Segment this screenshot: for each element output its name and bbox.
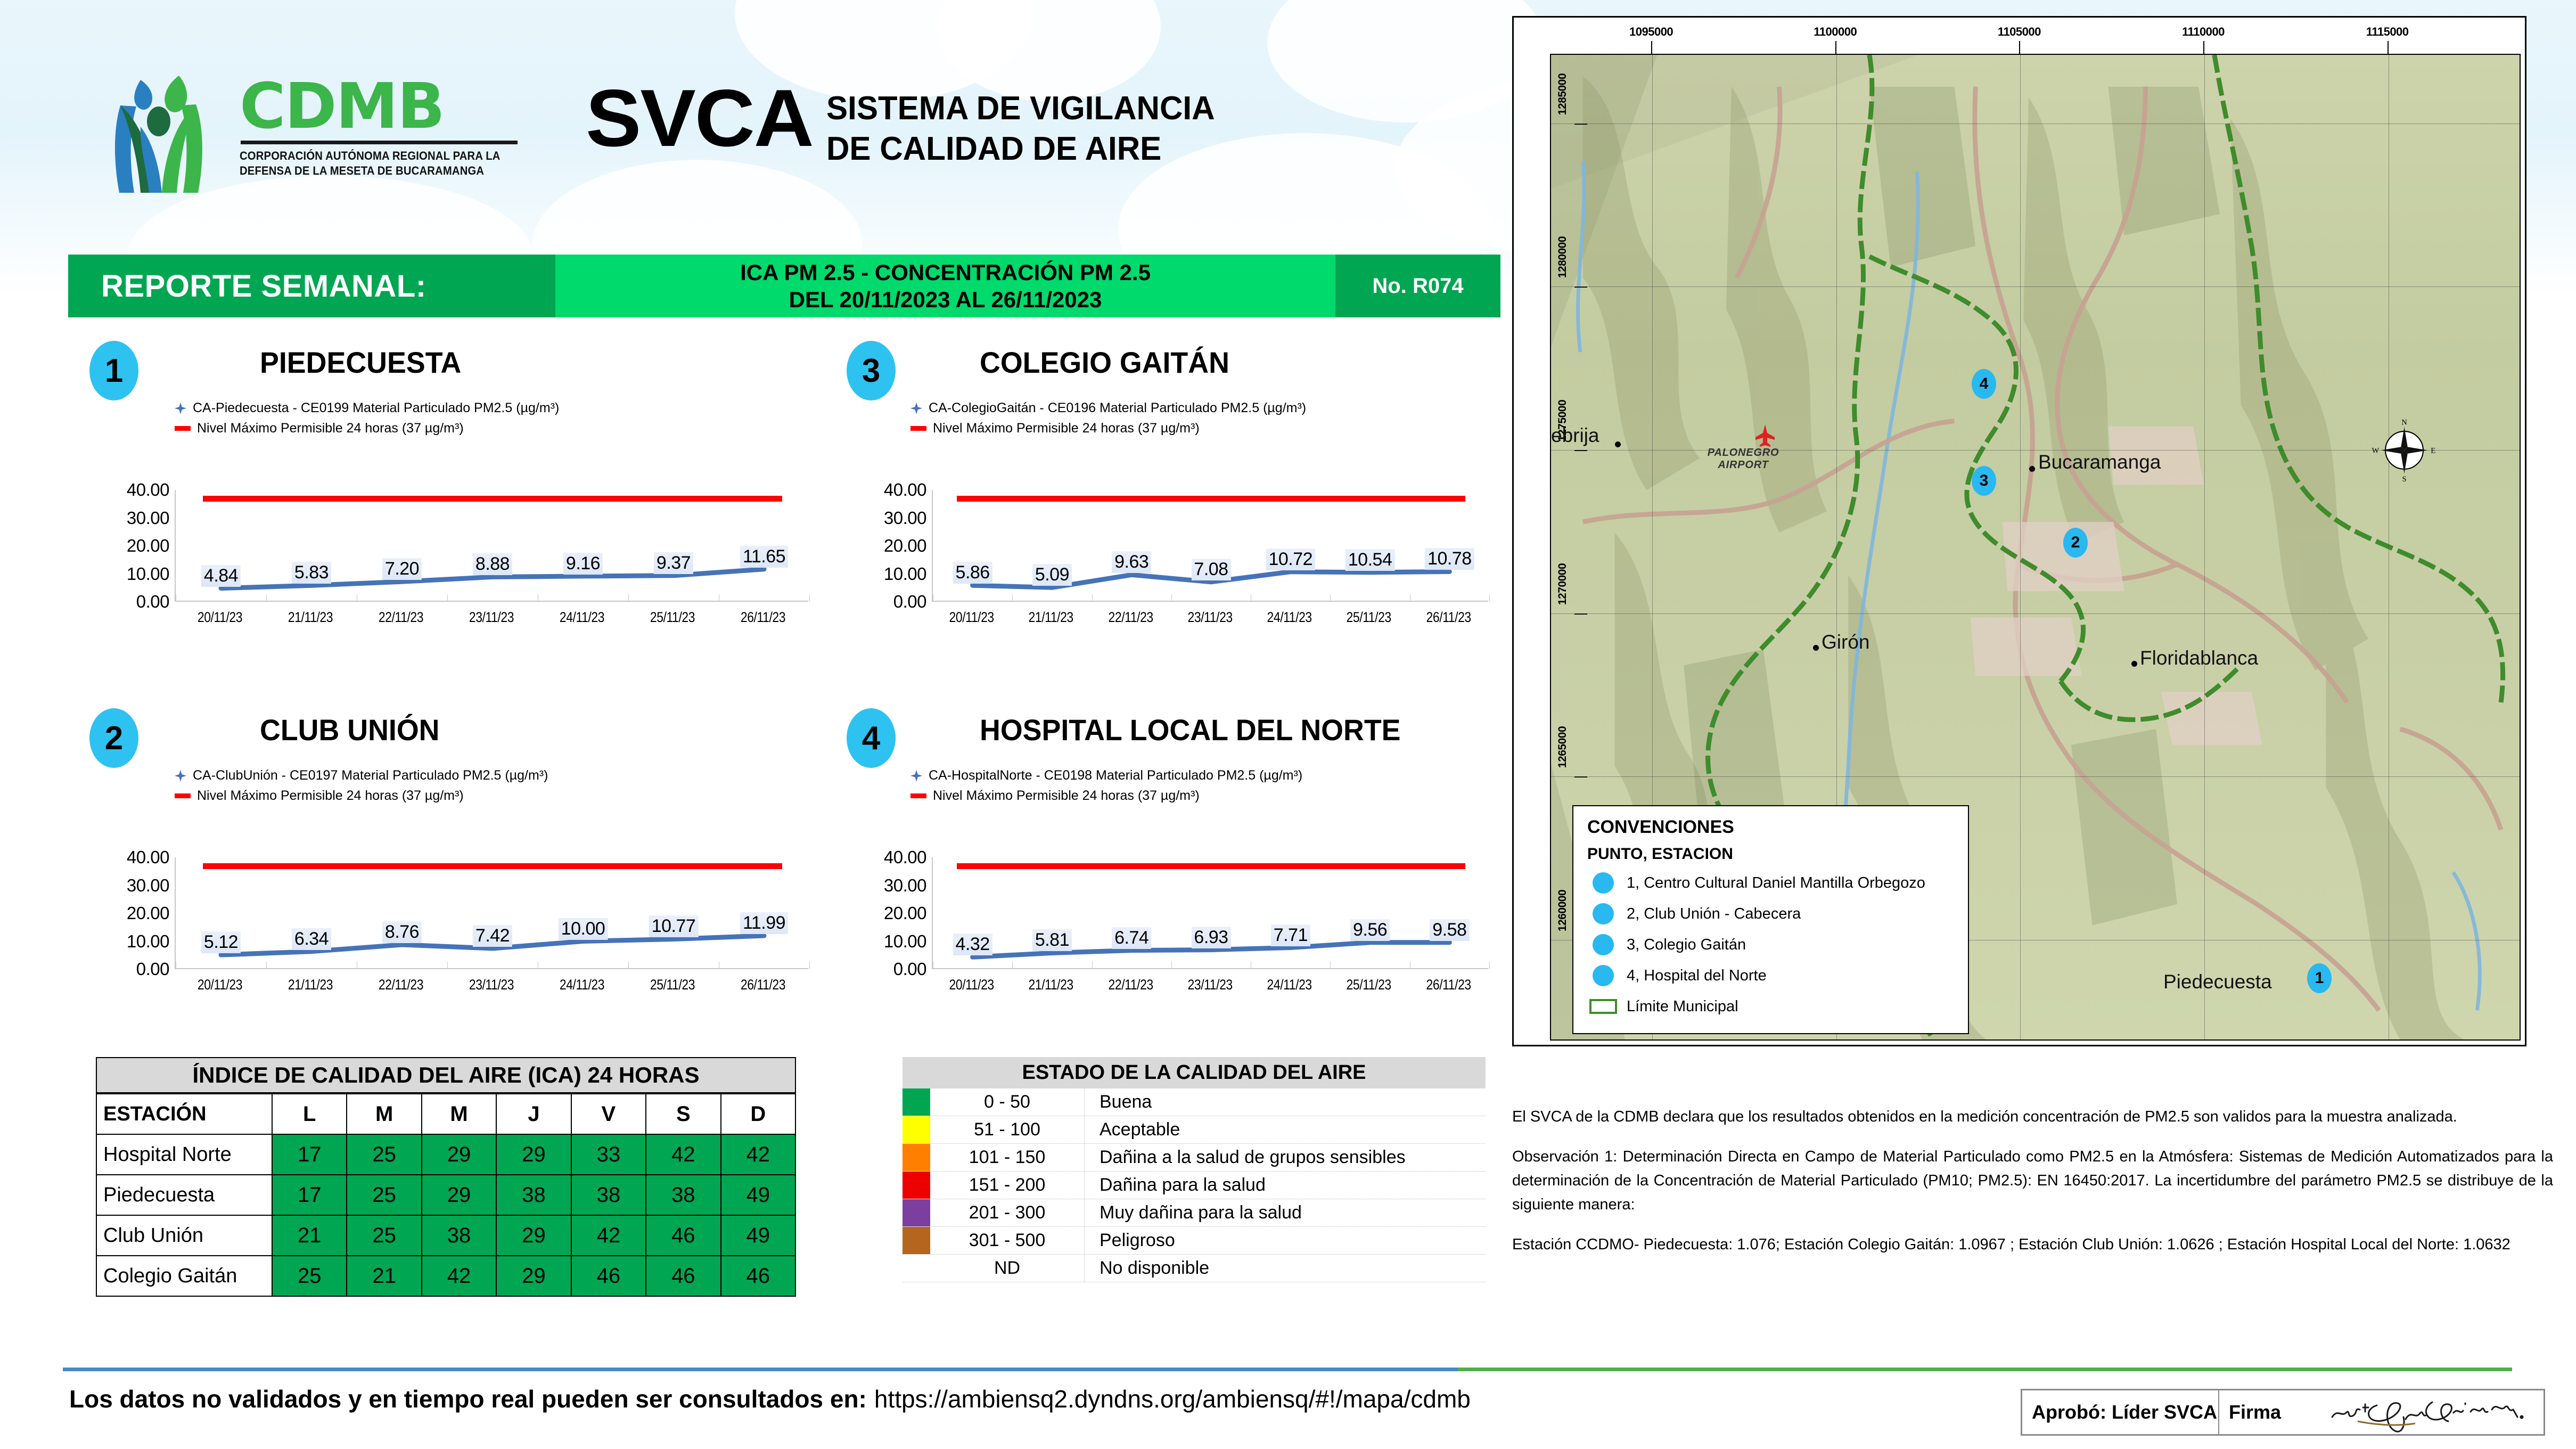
estado-description: Aceptable — [1085, 1116, 1486, 1143]
station-marker-icon — [1593, 934, 1614, 955]
x-axis-tick-label: 22/11/23 — [363, 609, 440, 626]
svca-subtitle-line2: DE CALIDAD DE AIRE — [826, 129, 1215, 169]
y-axis-labels: 0.0010.0020.0030.0040.00 — [89, 490, 169, 602]
estado-row: 201 - 300Muy dañina para la salud — [903, 1199, 1486, 1227]
note-paragraph-1: El SVCA de la CDMB declara que los resul… — [1512, 1105, 2553, 1129]
note-paragraph-3: Estación CCDMO- Piedecuesta: 1.076; Esta… — [1512, 1233, 2553, 1257]
data-point-label: 5.81 — [1032, 929, 1072, 951]
station-marker-icon — [1593, 965, 1614, 986]
svg-text:E: E — [2431, 447, 2435, 455]
footer-divider — [63, 1368, 2512, 1371]
table-row: Colegio Gaitán25214229464646 — [96, 1256, 795, 1296]
report-banner: REPORTE SEMANAL: ICA PM 2.5 - CONCENTRAC… — [68, 255, 1500, 317]
y-axis-tick-label: 0.00 — [136, 959, 169, 979]
map-x-tick-mark — [1835, 41, 1836, 54]
plot-area: 5.126.348.767.4210.0010.7711.99 — [175, 857, 808, 969]
legend-row-limit: Nivel Máximo Permisible 24 horas (37 µg/… — [910, 786, 1302, 806]
map-gridline-horizontal — [1551, 286, 2520, 287]
legend-row-limit: Nivel Máximo Permisible 24 horas (37 µg/… — [175, 419, 559, 439]
data-series-line — [176, 490, 809, 602]
map-gridline-horizontal — [1551, 124, 2520, 124]
data-point-label: 11.99 — [740, 912, 788, 934]
estado-range: 301 - 500 — [930, 1227, 1085, 1254]
x-axis-tick-label: 24/11/23 — [1256, 609, 1323, 626]
map-legend-title: CONVENCIONES — [1587, 817, 1968, 838]
svca-subtitle: SISTEMA DE VIGILANCIA DE CALIDAD DE AIRE — [826, 88, 1215, 169]
signature-cell: Firma — [2219, 1390, 2544, 1434]
y-axis-tick-label: 0.00 — [893, 592, 926, 612]
y-axis-tick-label: 40.00 — [884, 480, 926, 500]
estado-color-swatch — [903, 1255, 930, 1282]
estado-row: 0 - 50Buena — [903, 1088, 1486, 1116]
data-point-label: 6.74 — [1112, 927, 1151, 949]
ica-value-cell: 29 — [496, 1134, 571, 1175]
footer-note: Los datos no validados y en tiempo real … — [69, 1385, 1471, 1413]
map-legend-subtitle: PUNTO, ESTACION — [1587, 845, 1968, 863]
y-axis-tick-label: 20.00 — [127, 536, 169, 556]
ica-value-cell: 46 — [646, 1256, 720, 1296]
ica-column-header: ESTACIÓN — [96, 1094, 272, 1134]
estado-description: Dañina para la salud — [1085, 1172, 1486, 1199]
footer-divider-blue — [63, 1368, 1458, 1371]
data-point-label: 11.65 — [740, 546, 788, 568]
data-point-label: 9.37 — [654, 552, 693, 574]
svg-text:N: N — [2401, 419, 2407, 427]
map-x-tick-label: 1100000 — [1814, 25, 1857, 39]
y-axis-tick-label: 40.00 — [127, 847, 169, 867]
series-marker-icon — [910, 403, 922, 414]
ica-value-cell: 21 — [272, 1215, 347, 1256]
ica-value-cell: 42 — [646, 1134, 720, 1175]
chart-title: HOSPITAL LOCAL DEL NORTE — [980, 713, 1401, 747]
banner-title: ICA PM 2.5 - CONCENTRACIÓN PM 2.5 DEL 20… — [555, 255, 1335, 317]
map-y-tick-label: 1280000 — [1556, 236, 1569, 278]
ica-value-cell: 25 — [347, 1215, 421, 1256]
station-marker-icon — [1593, 903, 1614, 924]
y-axis-tick-label: 0.00 — [136, 592, 169, 612]
data-point-label: 10.78 — [1425, 548, 1474, 570]
ica-table-grid: ESTACIÓNLMMJVSD Hospital Norte1725292933… — [96, 1093, 796, 1297]
ica-column-header: D — [721, 1094, 795, 1134]
estado-color-swatch — [903, 1144, 930, 1171]
map-y-tick-label: 1260000 — [1556, 890, 1569, 931]
x-axis-tick — [1489, 962, 1490, 969]
city-dot-giron — [1813, 645, 1819, 651]
estado-color-swatch — [903, 1199, 930, 1226]
x-axis-labels: 20/11/2321/11/2322/11/2323/11/2324/11/23… — [175, 977, 808, 993]
data-point-label: 9.56 — [1350, 919, 1390, 941]
map-pin-1[interactable]: 1 — [2307, 963, 2332, 993]
series-marker-icon — [910, 770, 922, 782]
legend-series-label: CA-HospitalNorte - CE0198 Material Parti… — [929, 766, 1302, 786]
map-top-axis: 10950001100000110500011100001115000 — [1514, 18, 2525, 54]
chart-legend: CA-ColegioGaitán - CE0196 Material Parti… — [910, 398, 1306, 438]
legend-row-series: CA-ColegioGaitán - CE0196 Material Parti… — [910, 398, 1306, 419]
legend-limit-label: Nivel Máximo Permisible 24 horas (37 µg/… — [933, 786, 1200, 806]
y-axis-tick-label: 40.00 — [127, 480, 169, 500]
airport-name-line2: AIRPORT — [1718, 459, 1768, 471]
estado-description: Dañina a la salud de grupos sensibles — [1085, 1144, 1486, 1171]
map-legend-item-label: 3, Colegio Gaitán — [1627, 936, 1746, 954]
map-legend-boundary-label: Límite Municipal — [1627, 998, 1738, 1016]
ica-value-cell: 38 — [422, 1215, 496, 1256]
data-point-label: 6.93 — [1191, 927, 1230, 948]
estado-color-swatch — [903, 1172, 930, 1199]
map-canvas[interactable]: 1285000128000012750001270000126500012600… — [1550, 54, 2521, 1041]
x-axis-tick-label: 24/11/23 — [544, 977, 621, 993]
svg-text:W: W — [2372, 447, 2379, 455]
data-point-label: 5.83 — [292, 562, 331, 584]
limit-line-marker-icon — [175, 426, 191, 431]
chart-panel-hospital-norte: 4HOSPITAL LOCAL DEL NORTECA-HospitalNort… — [847, 708, 1502, 1006]
approval-box: Aprobó: Líder SVCA Firma — [2021, 1389, 2545, 1436]
estado-range: 0 - 50 — [930, 1088, 1085, 1116]
map-legend-item: 4, Hospital del Norte — [1587, 960, 1968, 991]
data-point-label: 7.08 — [1191, 559, 1230, 580]
ica-value-cell: 17 — [272, 1175, 347, 1215]
ica-value-cell: 29 — [496, 1256, 571, 1296]
city-label-floridablanca: Floridablanca — [2140, 647, 2258, 669]
map-legend-item: 3, Colegio Gaitán — [1587, 929, 1968, 960]
x-axis-tick-label: 26/11/23 — [725, 609, 802, 626]
x-axis-tick-label: 25/11/23 — [1335, 609, 1403, 626]
city-dot-bucaramanga — [2029, 466, 2035, 472]
y-axis-tick-label: 10.00 — [127, 931, 169, 952]
station-badge-3: 3 — [847, 341, 896, 400]
estado-row: 101 - 150Dañina a la salud de grupos sen… — [903, 1144, 1486, 1172]
map-y-tick-label: 1265000 — [1556, 726, 1569, 768]
map-y-tick-label: 1270000 — [1556, 563, 1569, 604]
map-gridline-vertical — [2204, 55, 2205, 1039]
cdmb-logo-mark — [89, 63, 233, 196]
map-gridline-horizontal — [1551, 776, 2520, 777]
data-point-label: 5.86 — [953, 562, 992, 584]
map-pin-2[interactable]: 2 — [2063, 528, 2088, 558]
x-axis-tick-label: 24/11/23 — [1256, 977, 1323, 993]
ica-value-cell: 38 — [496, 1175, 571, 1215]
map-legend-boundary-row: Límite Municipal — [1587, 991, 1968, 1022]
data-point-label: 9.16 — [563, 553, 603, 575]
y-axis-tick-label: 30.00 — [127, 875, 169, 896]
data-series-line — [933, 490, 1489, 602]
table-row: Hospital Norte17252929334242 — [96, 1134, 795, 1175]
y-axis-tick-label: 30.00 — [884, 508, 926, 528]
data-point-label: 7.42 — [473, 925, 512, 947]
ica-value-cell: 25 — [347, 1175, 421, 1215]
x-axis-tick-label: 21/11/23 — [272, 609, 349, 626]
ica-value-cell: 29 — [496, 1215, 571, 1256]
map-pin-4[interactable]: 4 — [1972, 369, 1996, 399]
estado-color-swatch — [903, 1116, 930, 1143]
x-axis-tick-label: 25/11/23 — [1335, 977, 1403, 993]
map-x-tick-label: 1105000 — [1998, 25, 2041, 39]
x-axis-labels: 20/11/2321/11/2322/11/2323/11/2324/11/23… — [932, 977, 1488, 993]
map-x-tick-label: 1110000 — [2182, 25, 2225, 39]
data-point-label: 10.54 — [1346, 549, 1395, 571]
municipal-boundary-swatch — [1589, 999, 1617, 1014]
plot-area: 4.845.837.208.889.169.3711.65 — [175, 490, 808, 602]
banner-report-label: REPORTE SEMANAL: — [68, 255, 555, 317]
y-axis-tick-label: 10.00 — [884, 564, 926, 584]
estado-range: 151 - 200 — [930, 1172, 1085, 1199]
x-axis-tick-label: 20/11/23 — [938, 609, 1005, 626]
legend-row-series: CA-HospitalNorte - CE0198 Material Parti… — [910, 766, 1302, 786]
logo-acronym: CDMB — [240, 75, 527, 137]
plot-area: 4.325.816.746.937.719.569.58 — [932, 857, 1488, 969]
chart-panel-club-union: 2CLUB UNIÓNCA-ClubUnión - CE0197 Materia… — [89, 708, 824, 1006]
x-axis-labels: 20/11/2321/11/2322/11/2323/11/2324/11/23… — [932, 609, 1488, 626]
approval-label: Aprobó: Líder SVCA — [2022, 1390, 2219, 1434]
estado-description: Muy dañina para la salud — [1085, 1199, 1486, 1226]
legend-row-series: CA-Piedecuesta - CE0199 Material Particu… — [175, 398, 559, 419]
footer-divider-green — [1458, 1368, 2512, 1371]
data-point-label: 4.84 — [201, 565, 241, 587]
ica-value-cell: 33 — [571, 1134, 646, 1175]
x-axis-tick-label: 20/11/23 — [182, 609, 259, 626]
legend-limit-label: Nivel Máximo Permisible 24 horas (37 µg/… — [197, 786, 464, 806]
data-point-label: 5.09 — [1032, 564, 1072, 586]
y-axis-labels: 0.0010.0020.0030.0040.00 — [847, 490, 926, 602]
station-marker-icon — [1593, 872, 1614, 894]
map-legend-item-label: 4, Hospital del Norte — [1627, 967, 1767, 985]
estado-row: 51 - 100Aceptable — [903, 1116, 1486, 1144]
compass-rose-icon: N S W E — [2371, 417, 2438, 484]
data-point-label: 6.34 — [292, 928, 331, 950]
ica-table-title: ÍNDICE DE CALIDAD DEL AIRE (ICA) 24 HORA… — [96, 1057, 796, 1093]
map-gridline-vertical — [2020, 55, 2021, 1039]
city-label-giron: Girón — [1822, 631, 1869, 653]
y-axis-labels: 0.0010.0020.0030.0040.00 — [847, 857, 926, 969]
station-location-map[interactable]: 10950001100000110500011100001115000 — [1512, 16, 2526, 1046]
airport-label: PALONEGRO AIRPORT — [1687, 447, 1799, 471]
limit-line-marker-icon — [910, 426, 926, 431]
estado-range: 101 - 150 — [930, 1144, 1085, 1171]
map-y-tick-label: 1285000 — [1556, 73, 1569, 115]
limit-line-marker-icon — [175, 793, 191, 798]
ica-table-header-row: ESTACIÓNLMMJVSD — [96, 1094, 795, 1134]
y-axis-tick-label: 20.00 — [127, 903, 169, 923]
chart-plot: 0.0010.0020.0030.0040.005.865.099.637.08… — [847, 490, 1488, 639]
x-axis-tick-label: 26/11/23 — [1415, 609, 1482, 626]
data-point-label: 7.20 — [382, 558, 422, 580]
ica-value-cell: 25 — [272, 1256, 347, 1296]
ica-value-cell: 49 — [721, 1175, 795, 1215]
cdmb-logo: CDMB CORPORACIÓN AUTÓNOMA REGIONAL PARA … — [89, 63, 526, 196]
data-series-line — [933, 857, 1489, 969]
x-axis-tick-label: 24/11/23 — [544, 609, 621, 626]
y-axis-tick-label: 10.00 — [884, 931, 926, 952]
table-row: Piedecuesta17252938383849 — [96, 1175, 795, 1215]
x-axis-tick — [809, 962, 810, 969]
estado-row: 301 - 500Peligroso — [903, 1227, 1486, 1255]
estado-color-swatch — [903, 1088, 930, 1116]
data-point-label: 10.00 — [559, 918, 608, 940]
map-x-tick-label: 1095000 — [1629, 25, 1673, 39]
banner-report-number: No. R074 — [1335, 255, 1500, 317]
plot-area: 5.865.099.637.0810.7210.5410.78 — [932, 490, 1488, 602]
legend-series-label: CA-Piedecuesta - CE0199 Material Particu… — [193, 398, 559, 419]
estado-color-swatch — [903, 1227, 930, 1254]
estado-description: No disponible — [1085, 1255, 1486, 1282]
estado-table-rows: 0 - 50Buena51 - 100Aceptable101 - 150Dañ… — [903, 1088, 1486, 1282]
svca-title-block: SVCA SISTEMA DE VIGILANCIA DE CALIDAD DE… — [586, 80, 1227, 169]
estado-table-title: ESTADO DE LA CALIDAD DEL AIRE — [903, 1057, 1486, 1088]
map-legend-items: 1, Centro Cultural Daniel Mantilla Orbeg… — [1587, 867, 1968, 991]
map-legend-item: 1, Centro Cultural Daniel Mantilla Orbeg… — [1587, 867, 1968, 898]
x-axis-tick-label: 21/11/23 — [272, 977, 349, 993]
estado-row: NDNo disponible — [903, 1255, 1486, 1282]
ica-column-header: J — [496, 1094, 571, 1134]
y-axis-labels: 0.0010.0020.0030.0040.00 — [89, 857, 169, 969]
legend-limit-label: Nivel Máximo Permisible 24 horas (37 µg/… — [933, 419, 1200, 439]
ica-station-name: Hospital Norte — [96, 1134, 272, 1175]
banner-title-line2: DEL 20/11/2023 AL 26/11/2023 — [789, 286, 1102, 313]
limit-line-marker-icon — [910, 793, 926, 798]
map-x-tick-mark — [2388, 41, 2389, 54]
legend-row-series: CA-ClubUnión - CE0197 Material Particula… — [175, 766, 548, 786]
station-badge-1: 1 — [89, 341, 138, 400]
chart-title: COLEGIO GAITÁN — [980, 345, 1229, 380]
estado-range: 201 - 300 — [930, 1199, 1085, 1226]
ica-value-cell: 25 — [347, 1134, 421, 1175]
x-axis-tick-label: 25/11/23 — [634, 977, 711, 993]
table-row: Club Unión21253829424649 — [96, 1215, 795, 1256]
map-x-tick-mark — [1651, 41, 1652, 54]
map-pin-3[interactable]: 3 — [1972, 466, 1996, 496]
data-point-label: 7.71 — [1271, 924, 1310, 946]
airport-icon — [1754, 423, 1776, 447]
ica-column-header: S — [646, 1094, 720, 1134]
ica-value-cell: 29 — [422, 1134, 496, 1175]
map-x-tick-mark — [2019, 41, 2020, 54]
svca-subtitle-line1: SISTEMA DE VIGILANCIA — [826, 88, 1215, 129]
map-legend-item-label: 2, Club Unión - Cabecera — [1627, 905, 1801, 923]
estado-range: ND — [930, 1255, 1085, 1282]
y-axis-tick-label: 20.00 — [884, 536, 926, 556]
y-axis-tick-label: 20.00 — [884, 903, 926, 923]
chart-legend: CA-Piedecuesta - CE0199 Material Particu… — [175, 398, 559, 438]
ica-value-cell: 17 — [272, 1134, 347, 1175]
airport-name-line1: PALONEGRO — [1708, 447, 1779, 459]
ica-table: ÍNDICE DE CALIDAD DEL AIRE (ICA) 24 HORA… — [96, 1057, 796, 1297]
map-legend: CONVENCIONES PUNTO, ESTACION 1, Centro C… — [1572, 805, 1969, 1034]
x-axis-labels: 20/11/2321/11/2322/11/2323/11/2324/11/23… — [175, 609, 808, 626]
svca-acronym: SVCA — [586, 80, 813, 157]
x-axis-tick-label: 22/11/23 — [363, 977, 440, 993]
ica-station-name: Colegio Gaitán — [96, 1256, 272, 1296]
ica-value-cell: 42 — [422, 1256, 496, 1296]
x-axis-tick-label: 21/11/23 — [1017, 609, 1085, 626]
footer-url[interactable]: https://ambiensq2.dyndns.org/ambiensq/#!… — [874, 1385, 1471, 1413]
legend-row-limit: Nivel Máximo Permisible 24 horas (37 µg/… — [175, 786, 548, 806]
x-axis-tick-label: 25/11/23 — [634, 609, 711, 626]
chart-title: CLUB UNIÓN — [260, 713, 439, 747]
map-legend-item-label: 1, Centro Cultural Daniel Mantilla Orbeg… — [1627, 874, 1925, 892]
x-axis-tick-label: 21/11/23 — [1017, 977, 1085, 993]
ica-column-header: M — [422, 1094, 496, 1134]
ica-value-cell: 38 — [571, 1175, 646, 1215]
ica-value-cell: 42 — [721, 1134, 795, 1175]
chart-panel-colegio-gaitan: 3COLEGIO GAITÁNCA-ColegioGaitán - CE0196… — [847, 341, 1502, 639]
x-axis-tick — [809, 594, 810, 602]
x-axis-tick-label: 20/11/23 — [938, 977, 1005, 993]
chart-legend: CA-HospitalNorte - CE0198 Material Parti… — [910, 766, 1302, 806]
x-axis-tick-label: 23/11/23 — [453, 609, 530, 626]
map-gridline-horizontal — [1551, 613, 2520, 614]
map-x-tick-mark — [2203, 41, 2204, 54]
ica-value-cell: 42 — [571, 1215, 646, 1256]
ica-table-body: Hospital Norte17252929334242Piedecuesta1… — [96, 1134, 795, 1296]
station-badge-2: 2 — [89, 708, 138, 768]
chart-title: PIEDECUESTA — [260, 345, 461, 380]
ica-column-header: M — [347, 1094, 421, 1134]
x-axis-tick-label: 26/11/23 — [725, 977, 802, 993]
estado-row: 151 - 200Dañina para la salud — [903, 1172, 1486, 1199]
estado-calidad-aire-table: ESTADO DE LA CALIDAD DEL AIRE 0 - 50Buen… — [903, 1057, 1486, 1282]
city-dot-lebrija — [1615, 441, 1621, 447]
data-point-label: 5.12 — [201, 931, 241, 953]
ica-value-cell: 21 — [347, 1256, 421, 1296]
chart-plot: 0.0010.0020.0030.0040.004.845.837.208.88… — [89, 490, 808, 639]
ica-value-cell: 49 — [721, 1215, 795, 1256]
chart-legend: CA-ClubUnión - CE0197 Material Particula… — [175, 766, 548, 806]
estado-description: Buena — [1085, 1088, 1486, 1116]
ica-station-name: Piedecuesta — [96, 1175, 272, 1215]
city-dot-floridablanca — [2131, 661, 2137, 667]
banner-title-line1: ICA PM 2.5 - CONCENTRACIÓN PM 2.5 — [740, 259, 1151, 286]
x-axis-tick-label: 22/11/23 — [1097, 609, 1164, 626]
ica-value-cell: 38 — [646, 1175, 720, 1215]
city-label-bucaramanga: Bucaramanga — [2038, 451, 2161, 473]
data-point-label: 10.77 — [649, 915, 699, 937]
series-marker-icon — [175, 770, 186, 782]
city-label-piedecuesta: Piedecuesta — [2163, 971, 2272, 993]
ica-value-cell: 46 — [571, 1256, 646, 1296]
legend-series-label: CA-ColegioGaitán - CE0196 Material Parti… — [929, 398, 1306, 419]
ica-value-cell: 46 — [721, 1256, 795, 1296]
legend-row-limit: Nivel Máximo Permisible 24 horas (37 µg/… — [910, 419, 1306, 439]
map-gridline-vertical — [2389, 55, 2389, 1039]
legend-limit-label: Nivel Máximo Permisible 24 horas (37 µg/… — [197, 419, 464, 439]
y-axis-tick-label: 30.00 — [127, 508, 169, 528]
x-axis-tick-label: 22/11/23 — [1097, 977, 1164, 993]
svg-text:S: S — [2402, 475, 2406, 484]
y-axis-tick-label: 10.00 — [127, 564, 169, 584]
map-legend-item: 2, Club Unión - Cabecera — [1587, 898, 1968, 929]
ica-column-header: L — [272, 1094, 347, 1134]
chart-plot: 0.0010.0020.0030.0040.005.126.348.767.42… — [89, 857, 808, 1006]
y-axis-tick-label: 30.00 — [884, 875, 926, 896]
chart-panel-piedecuesta: 1PIEDECUESTACA-Piedecuesta - CE0199 Mate… — [89, 341, 824, 639]
legend-series-label: CA-ClubUnión - CE0197 Material Particula… — [193, 766, 548, 786]
ica-value-cell: 46 — [646, 1215, 720, 1256]
chart-plot: 0.0010.0020.0030.0040.004.325.816.746.93… — [847, 857, 1488, 1006]
map-x-tick-label: 1115000 — [2366, 25, 2409, 39]
signature-image — [2326, 1394, 2555, 1435]
ica-value-cell: 29 — [422, 1175, 496, 1215]
data-point-label: 8.88 — [473, 553, 512, 575]
logo-subtitle-line2: DEFENSA DE LA MESETA DE BUCARAMANGA — [240, 163, 504, 178]
x-axis-tick-label: 23/11/23 — [1176, 977, 1244, 993]
y-axis-tick-label: 40.00 — [884, 847, 926, 867]
x-axis-tick-label: 20/11/23 — [182, 977, 259, 993]
signature-label: Firma — [2229, 1401, 2281, 1423]
y-axis-tick-label: 0.00 — [893, 959, 926, 979]
station-badge-4: 4 — [847, 708, 896, 768]
data-point-label: 10.72 — [1266, 549, 1315, 570]
data-point-label: 8.76 — [382, 921, 422, 943]
disclaimer-notes: El SVCA de la CDMB declara que los resul… — [1512, 1105, 2553, 1257]
